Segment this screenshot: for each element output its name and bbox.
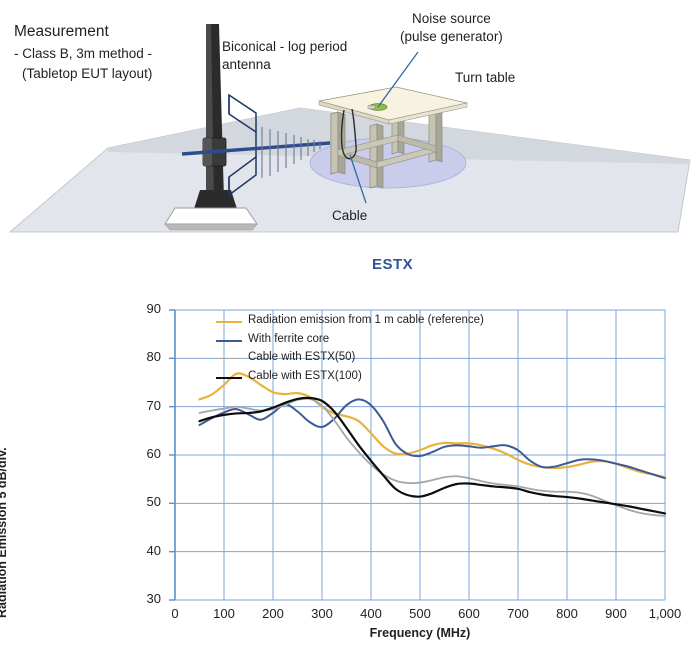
- legend-swatch: [216, 377, 242, 379]
- legend-label: Cable with ESTX(100): [248, 370, 362, 382]
- mast-base-plate: [165, 208, 257, 224]
- y-tick-label: 80: [127, 349, 161, 364]
- turn-table-label: Turn table: [455, 69, 515, 87]
- y-tick-label: 40: [127, 543, 161, 558]
- legend-swatch: [216, 340, 242, 342]
- chart-plot: [0, 288, 696, 647]
- x-tick-label: 100: [199, 606, 249, 621]
- x-tick-label: 800: [542, 606, 592, 621]
- estx-caption: ESTX: [372, 256, 492, 273]
- y-tick-label: 30: [127, 591, 161, 606]
- x-tick-label: 1,000: [640, 606, 690, 621]
- x-tick-label: 0: [150, 606, 200, 621]
- legend-swatch: [216, 358, 242, 359]
- x-tick-label: 300: [297, 606, 347, 621]
- legend-label: With ferrite core: [248, 333, 329, 345]
- x-tick-label: 200: [248, 606, 298, 621]
- antenna-label: Biconical - log period antenna: [222, 38, 347, 73]
- x-tick-label: 900: [591, 606, 641, 621]
- x-tick-label: 500: [395, 606, 445, 621]
- legend-swatch: [216, 321, 242, 323]
- measurement-subtitle-1: - Class B, 3m method -: [14, 45, 152, 63]
- cable-label: Cable: [332, 207, 367, 225]
- y-tick-label: 70: [127, 398, 161, 413]
- x-tick-label: 600: [444, 606, 494, 621]
- legend-label: Radiation emission from 1 m cable (refer…: [248, 314, 484, 326]
- y-tick-label: 60: [127, 446, 161, 461]
- measurement-subtitle-2: (Tabletop EUT layout): [22, 65, 152, 83]
- y-tick-label: 90: [127, 301, 161, 316]
- measurement-title: Measurement: [14, 22, 109, 42]
- x-tick-label: 700: [493, 606, 543, 621]
- x-tick-label: 400: [346, 606, 396, 621]
- measurement-diagram: Measurement - Class B, 3m method - (Tabl…: [0, 0, 696, 245]
- noise-source-label: Noise source (pulse generator): [400, 10, 503, 45]
- y-tick-label: 50: [127, 494, 161, 509]
- legend-label: Cable with ESTX(50): [248, 351, 355, 363]
- emission-chart: Radiation Emission 5 dB/div. Frequency (…: [0, 288, 696, 647]
